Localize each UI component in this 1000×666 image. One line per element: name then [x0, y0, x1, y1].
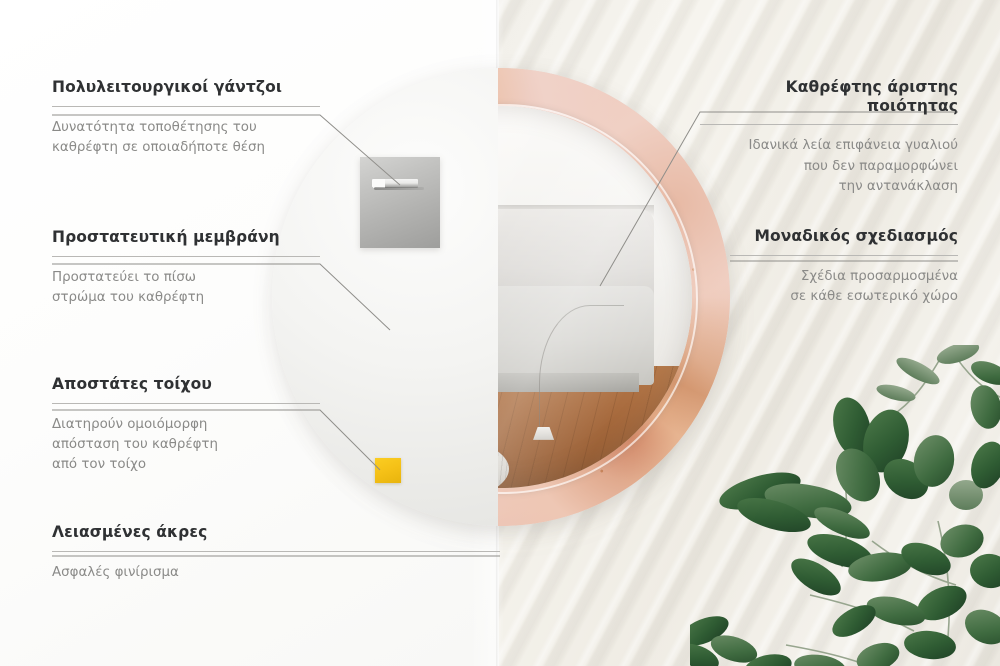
callout-unique-design-rule	[730, 255, 958, 256]
callout-spacers: Αποστάτες τοίχου Διατηρούν ομοιόμορφη απ…	[52, 375, 320, 476]
leaf	[968, 551, 1000, 590]
leaf	[903, 628, 958, 661]
callout-hooks-body: Δυνατότητα τοποθέτησης του καθρέφτη σε ο…	[52, 118, 320, 159]
foliage-decoration	[690, 345, 1000, 666]
callout-unique-design: Μοναδικός σχεδιασμός Σχέδια προσαρμοσμέν…	[730, 227, 958, 307]
callout-edges-body: Ασφαλές φινίρισμα	[52, 563, 500, 583]
callout-spacers-title: Αποστάτες τοίχου	[52, 375, 320, 394]
callout-quality-mirror-body-line-2: που δεν παραμορφώνει	[804, 159, 958, 174]
callout-membrane: Προστατευτική μεμβράνη Προστατεύει το πί…	[52, 228, 320, 308]
infographic-canvas: Πολυλειτουργικοί γάντζοι Δυνατότητα τοπο…	[0, 0, 1000, 666]
callout-edges-body-line-1: Ασφαλές φινίρισμα	[52, 565, 179, 580]
callout-quality-mirror-body-line-3: την αντανάκλαση	[839, 179, 958, 194]
callout-unique-design-body-line-2: σε κάθε εσωτερικό χώρο	[790, 289, 958, 304]
callout-membrane-title: Προστατευτική μεμβράνη	[52, 228, 320, 247]
callout-edges: Λειασμένες άκρες Ασφαλές φινίρισμα	[52, 523, 500, 583]
leaf	[875, 381, 917, 404]
callout-unique-design-title: Μοναδικός σχεδιασμός	[730, 227, 958, 246]
foliage-leaves	[690, 345, 1000, 666]
callout-spacers-body: Διατηρούν ομοιόμορφη απόσταση του καθρέφ…	[52, 415, 320, 476]
leaf	[853, 638, 903, 666]
callout-spacers-body-line-1: Διατηρούν ομοιόμορφη	[52, 417, 207, 432]
leaf	[893, 353, 943, 390]
callout-membrane-body: Προστατεύει το πίσω στρώμα του καθρέφτη	[52, 268, 320, 309]
hook-slot-shadow	[374, 187, 424, 190]
callout-spacers-body-line-2: απόσταση του καθρέφτη	[52, 437, 218, 452]
callout-spacers-rule	[52, 403, 320, 404]
callout-quality-mirror: Καθρέφτης άριστης ποιότητας Ιδανικά λεία…	[700, 78, 958, 197]
callout-unique-design-body-line-1: Σχέδια προσαρμοσμένα	[801, 269, 958, 284]
callout-quality-mirror-body-line-1: Ιδανικά λεία επιφάνεια γυαλιού	[749, 138, 958, 153]
callout-membrane-rule	[52, 256, 320, 257]
callout-quality-mirror-title: Καθρέφτης άριστης ποιότητας	[700, 78, 958, 115]
callout-membrane-body-line-1: Προστατεύει το πίσω	[52, 270, 196, 285]
callout-hooks-title: Πολυλειτουργικοί γάντζοι	[52, 78, 320, 97]
callout-hooks-body-line-2: καθρέφτη σε οποιαδήποτε θέση	[52, 140, 265, 155]
callout-spacers-body-line-3: από τον τοίχο	[52, 457, 146, 472]
callout-edges-title: Λειασμένες άκρες	[52, 523, 500, 542]
callout-hooks-rule	[52, 106, 320, 107]
callout-quality-mirror-rule	[700, 124, 958, 125]
leaf	[967, 382, 1000, 431]
leaf	[968, 356, 1000, 390]
mirror-glass	[498, 106, 692, 488]
callout-unique-design-body: Σχέδια προσαρμοσμένα σε κάθε εσωτερικό χ…	[730, 267, 958, 308]
callout-edges-rule	[52, 551, 500, 552]
wall-spacer	[375, 458, 401, 483]
leaf	[959, 603, 1000, 651]
callout-hooks: Πολυλειτουργικοί γάντζοι Δυνατότητα τοπο…	[52, 78, 320, 158]
hook-plate	[360, 157, 440, 248]
callout-membrane-body-line-2: στρώμα του καθρέφτη	[52, 290, 204, 305]
callout-quality-mirror-body: Ιδανικά λεία επιφάνεια γυαλιού που δεν π…	[700, 136, 958, 197]
leaf	[793, 651, 848, 666]
mirror-product	[272, 68, 742, 538]
callout-hooks-body-line-1: Δυνατότητα τοποθέτησης του	[52, 120, 257, 135]
